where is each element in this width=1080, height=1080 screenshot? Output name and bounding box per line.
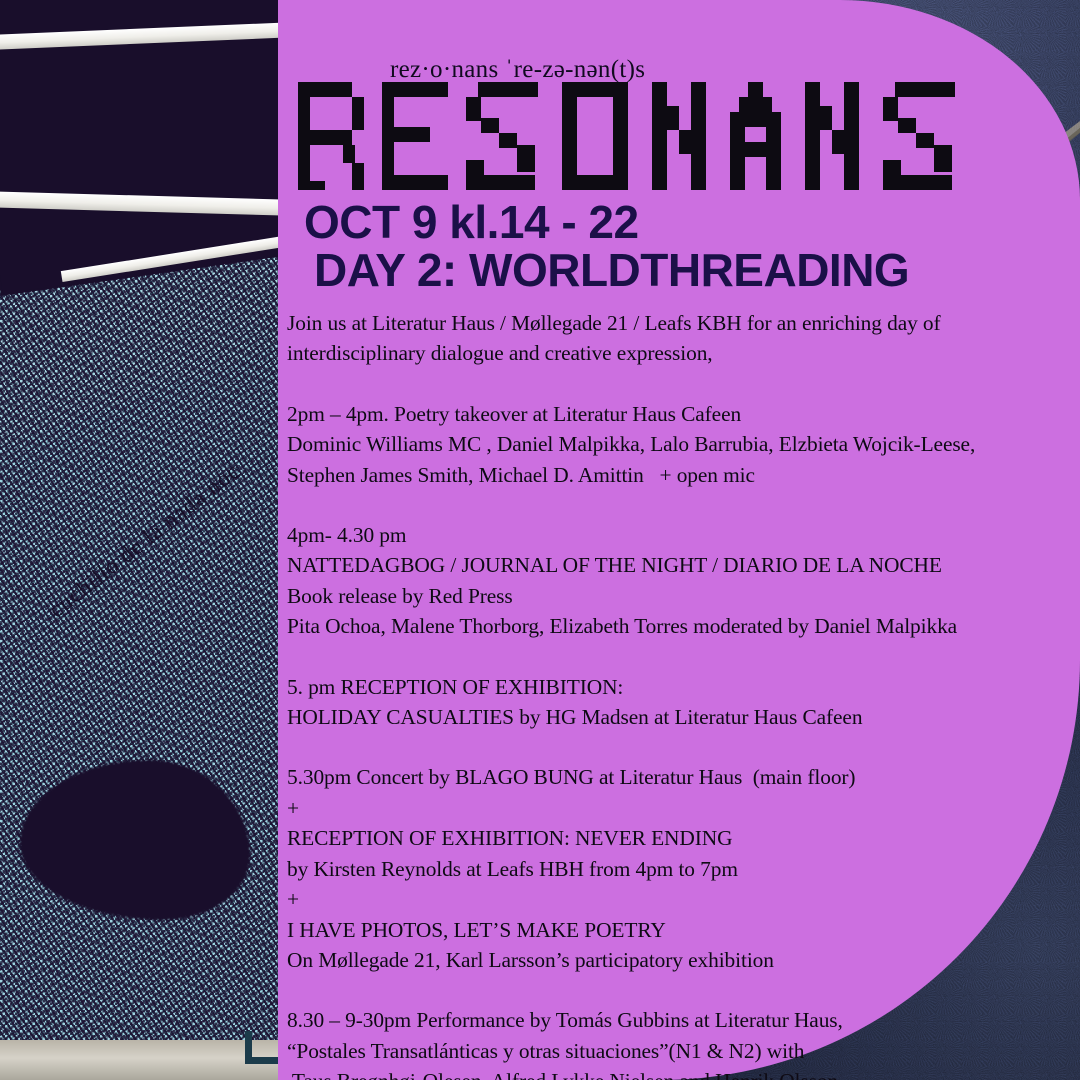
spacer-4 bbox=[287, 732, 1057, 762]
performance-line-3: Taus Bregnhøj-Olesen, Alfred Lykke Niels… bbox=[287, 1066, 1057, 1080]
poetry-line-2: Dominic Williams MC , Daniel Malpikka, L… bbox=[287, 429, 1057, 459]
background-left-halftone: cuchillo de la nada noc bbox=[0, 0, 300, 1080]
spacer-1 bbox=[287, 369, 1057, 399]
intro-line-2: interdisciplinary dialogue and creative … bbox=[287, 338, 1057, 368]
book-line-4: Pita Ochoa, Malene Thorborg, Elizabeth T… bbox=[287, 611, 1057, 641]
concert-line-6: I HAVE PHOTOS, LET’S MAKE POETRY bbox=[287, 915, 1057, 945]
intro-line-1: Join us at Literatur Haus / Møllegade 21… bbox=[287, 308, 1057, 338]
reception-line-2: HOLIDAY CASUALTIES by HG Madsen at Liter… bbox=[287, 702, 1057, 732]
concert-line-3: RECEPTION OF EXHIBITION: NEVER ENDING bbox=[287, 823, 1057, 853]
book-line-3: Book release by Red Press bbox=[287, 581, 1057, 611]
wordmark-resonans bbox=[298, 82, 958, 202]
spacer-3 bbox=[287, 642, 1057, 672]
photo-corner-mark-icon bbox=[245, 1031, 278, 1064]
poetry-line-1: 2pm – 4pm. Poetry takeover at Literatur … bbox=[287, 399, 1057, 429]
concert-line-1: 5.30pm Concert by BLAGO BUNG at Literatu… bbox=[287, 762, 1057, 792]
poster-subtitle: OCT 9 kl.14 - 22 DAY 2: WORLDTHREADING bbox=[304, 198, 909, 295]
concert-line-4: by Kirsten Reynolds at Leafs HBH from 4p… bbox=[287, 854, 1057, 884]
subtitle-theme: DAY 2: WORLDTHREADING bbox=[304, 246, 909, 294]
phonetic-pronunciation: rez·o·nans ˈre-zə-nən(t)s bbox=[390, 56, 645, 84]
concert-line-5: + bbox=[287, 884, 1057, 914]
spacer-5 bbox=[287, 975, 1057, 1005]
poster-body: Join us at Literatur Haus / Møllegade 21… bbox=[287, 308, 1057, 1080]
photo-bottom-strip bbox=[0, 1040, 300, 1080]
performance-line-2: “Postales Transatlánticas y otras situac… bbox=[287, 1036, 1057, 1066]
book-line-2: NATTEDAGBOG / JOURNAL OF THE NIGHT / DIA… bbox=[287, 550, 1057, 580]
poetry-line-3: Stephen James Smith, Michael D. Amittin … bbox=[287, 460, 1057, 490]
concert-line-2: + bbox=[287, 793, 1057, 823]
poster-root: cuchillo de la nada noc rez·o·nans ˈre-z… bbox=[0, 0, 1080, 1080]
spacer-2 bbox=[287, 490, 1057, 520]
concert-line-7: On Møllegade 21, Karl Larsson’s particip… bbox=[287, 945, 1057, 975]
book-line-1: 4pm- 4.30 pm bbox=[287, 520, 1057, 550]
subtitle-date: OCT 9 kl.14 - 22 bbox=[304, 198, 909, 246]
performance-line-1: 8.30 – 9-30pm Performance by Tomás Gubbi… bbox=[287, 1005, 1057, 1035]
reception-line-1: 5. pm RECEPTION OF EXHIBITION: bbox=[287, 672, 1057, 702]
